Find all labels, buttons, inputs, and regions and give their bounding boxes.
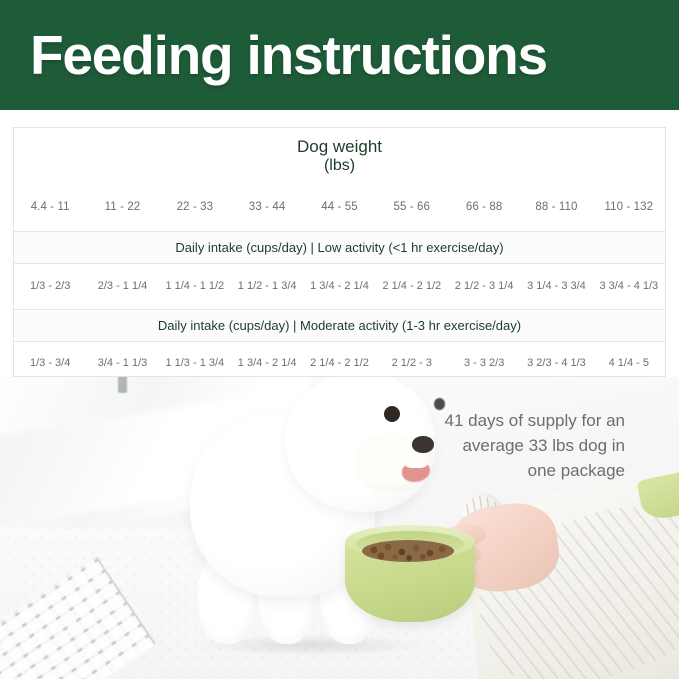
low-activity-value-2: 2/3 - 1 1/4 (86, 263, 158, 309)
low-activity-label: Daily intake (cups/day) | Low activity (… (14, 231, 665, 263)
weight-col-7: 66 - 88 (448, 184, 520, 231)
low-activity-value-6: 2 1/4 - 2 1/2 (376, 263, 448, 309)
weight-col-6: 55 - 66 (376, 184, 448, 231)
low-activity-value-7: 2 1/2 - 3 1/4 (448, 263, 520, 309)
page-header-band: Feeding instructions (0, 0, 679, 110)
moderate-activity-label: Daily intake (cups/day) | Moderate activ… (14, 309, 665, 341)
supply-caption: 41 days of supply for an average 33 lbs … (380, 408, 625, 483)
dog-weight-label: Dog weight (297, 137, 382, 156)
dog-weight-unit: (lbs) (14, 156, 665, 175)
moderate-activity-section-row: Daily intake (cups/day) | Moderate activ… (14, 309, 665, 341)
low-activity-section-row: Daily intake (cups/day) | Low activity (… (14, 231, 665, 263)
dog-weight-title-cell: Dog weight (lbs) (14, 128, 665, 184)
weight-col-1: 4.4 - 11 (14, 184, 86, 231)
table-title-row: Dog weight (lbs) (14, 128, 665, 184)
low-activity-value-5: 1 3/4 - 2 1/4 (303, 263, 375, 309)
low-activity-value-1: 1/3 - 2/3 (14, 263, 86, 309)
low-activity-value-3: 1 1/4 - 1 1/2 (159, 263, 231, 309)
low-activity-value-9: 3 3/4 - 4 1/3 (593, 263, 665, 309)
low-activity-value-8: 3 1/4 - 3 3/4 (520, 263, 592, 309)
low-activity-value-4: 1 1/2 - 1 3/4 (231, 263, 303, 309)
background-knob (118, 377, 127, 393)
page-title: Feeding instructions (0, 28, 547, 83)
weight-col-9: 110 - 132 (593, 184, 665, 231)
kibble-food (362, 540, 454, 562)
weight-col-3: 22 - 33 (159, 184, 231, 231)
weight-col-8: 88 - 110 (520, 184, 592, 231)
weight-col-2: 11 - 22 (86, 184, 158, 231)
weight-range-header-row: 4.4 - 11 11 - 22 22 - 33 33 - 44 44 - 55… (14, 184, 665, 231)
feeding-chart-table: Dog weight (lbs) 4.4 - 11 11 - 22 22 - 3… (13, 127, 666, 377)
low-activity-values-row: 1/3 - 2/3 2/3 - 1 1/4 1 1/4 - 1 1/2 1 1/… (14, 263, 665, 309)
weight-col-5: 44 - 55 (303, 184, 375, 231)
weight-col-4: 33 - 44 (231, 184, 303, 231)
